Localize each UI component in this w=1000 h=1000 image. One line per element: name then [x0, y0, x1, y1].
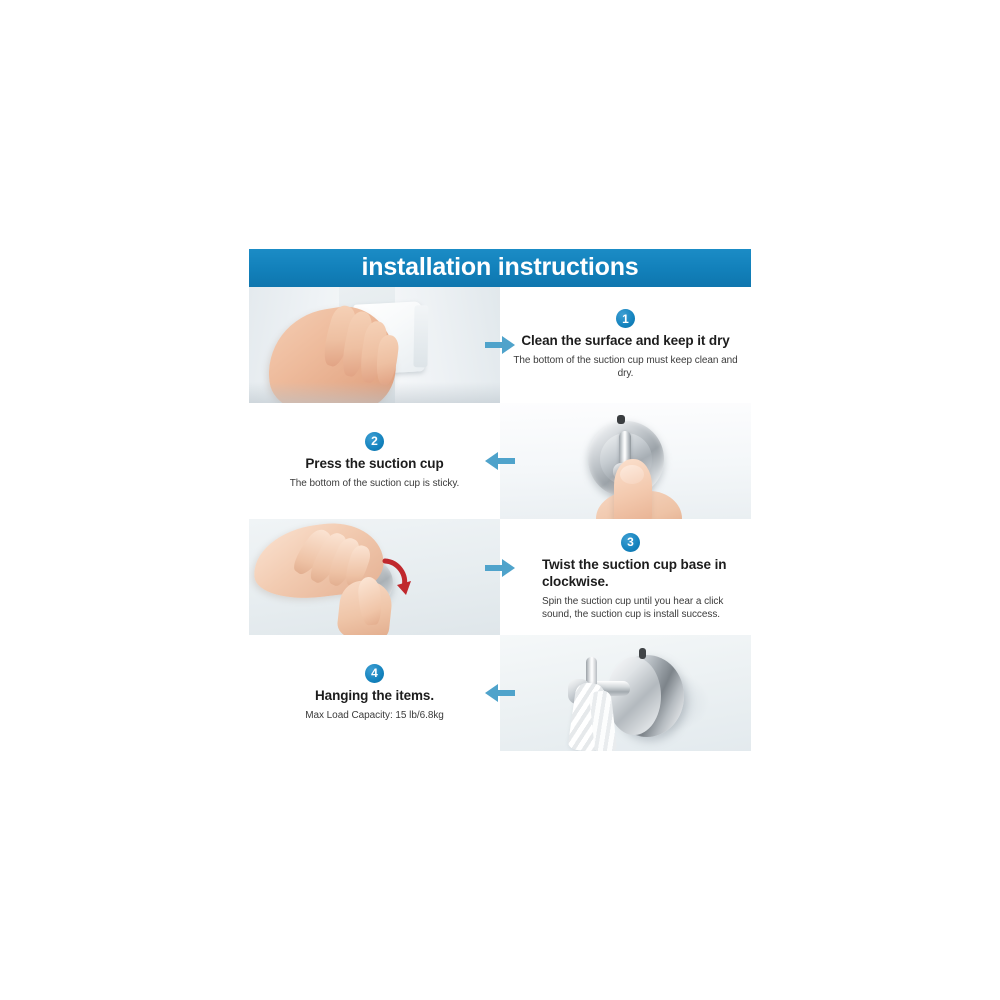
step-3-photo	[249, 519, 500, 635]
arrow-left-icon	[485, 452, 515, 470]
step-4-description: Max Load Capacity: 15 lb/6.8kg	[305, 709, 444, 722]
instruction-infographic-page: installation instructions 1	[0, 0, 1000, 1000]
step-row-2: 2 Press the suction cup The bottom of th…	[249, 403, 751, 519]
card-header: installation instructions	[249, 249, 751, 287]
step-1-text: 1 Clean the surface and keep it dry The …	[500, 287, 751, 403]
step-3-title: Twist the suction cup base in clockwise.	[520, 557, 741, 591]
step-number-badge-2: 2	[365, 432, 384, 451]
step-2-text: 2 Press the suction cup The bottom of th…	[249, 403, 500, 519]
step-1-photo	[249, 287, 500, 403]
step-number-badge-4: 4	[365, 664, 384, 683]
suction-cup-tab	[617, 415, 625, 424]
photo-shadow	[249, 382, 500, 403]
steps-grid: 1 Clean the surface and keep it dry The …	[249, 287, 751, 751]
step-2-description: The bottom of the suction cup is sticky.	[290, 477, 460, 490]
step-4-photo	[500, 635, 751, 751]
step-row-4: 4 Hanging the items. Max Load Capacity: …	[249, 635, 751, 751]
arrow-right-icon	[485, 559, 515, 577]
suction-cup-tab	[639, 648, 646, 659]
arrow-right-icon	[485, 336, 515, 354]
step-2-photo	[500, 403, 751, 519]
step-row-1: 1 Clean the surface and keep it dry The …	[249, 287, 751, 403]
page-title: installation instructions	[362, 255, 639, 282]
step-3-description: Spin the suction cup until you hear a cl…	[520, 595, 741, 621]
installation-instructions-card: installation instructions 1	[249, 249, 751, 751]
step-2-title: Press the suction cup	[305, 456, 443, 473]
suction-cup-face	[607, 657, 661, 735]
step-row-3: 3 Twist the suction cup base in clockwis…	[249, 519, 751, 635]
rotation-arrow-icon	[375, 557, 415, 605]
step-4-text: 4 Hanging the items. Max Load Capacity: …	[249, 635, 500, 751]
fingernail	[620, 465, 644, 484]
step-3-text: 3 Twist the suction cup base in clockwis…	[500, 519, 751, 635]
step-number-badge-3: 3	[621, 533, 640, 552]
arrow-left-icon	[485, 684, 515, 702]
step-1-description: The bottom of the suction cup must keep …	[506, 354, 745, 380]
step-4-title: Hanging the items.	[315, 688, 434, 705]
step-number-badge-1: 1	[616, 309, 635, 328]
step-1-title: Clean the surface and keep it dry	[521, 333, 729, 350]
